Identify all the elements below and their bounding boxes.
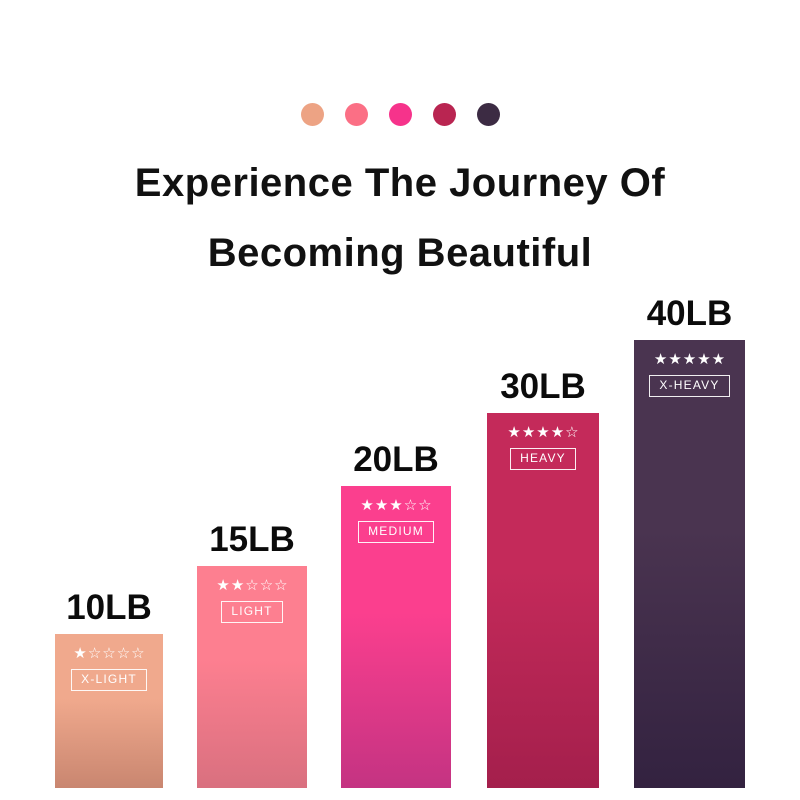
star-empty-icon: ☆	[418, 498, 431, 513]
star-rating: ★☆☆☆☆	[73, 646, 144, 661]
star-rating: ★★☆☆☆	[216, 578, 287, 593]
resistance-level-tag: LIGHT	[221, 601, 282, 623]
star-empty-icon: ☆	[565, 425, 578, 440]
color-swatch-dots	[0, 103, 800, 126]
star-filled-icon: ★	[507, 425, 520, 440]
bar-column-40lb[interactable]: 40LB★★★★★X-HEAVY	[634, 294, 745, 800]
dot-heavy-icon	[433, 103, 456, 126]
star-filled-icon: ★	[216, 578, 229, 593]
bar-column-15lb[interactable]: 15LB★★☆☆☆LIGHT	[197, 520, 307, 800]
star-filled-icon: ★	[73, 646, 86, 661]
star-filled-icon: ★	[231, 578, 244, 593]
star-filled-icon: ★	[668, 352, 681, 367]
star-filled-icon: ★	[375, 498, 388, 513]
bar-body[interactable]: ★★★★☆HEAVY	[487, 413, 599, 788]
bar-body[interactable]: ★★★☆☆MEDIUM	[341, 486, 451, 788]
page-title-line-2: Becoming Beautiful	[0, 218, 800, 288]
star-filled-icon: ★	[536, 425, 549, 440]
resistance-level-tag: X-LIGHT	[71, 669, 147, 691]
star-filled-icon: ★	[522, 425, 535, 440]
bar-body[interactable]: ★★★★★X-HEAVY	[634, 340, 745, 788]
resistance-level-tag: HEAVY	[510, 448, 576, 470]
bar-body[interactable]: ★☆☆☆☆X-LIGHT	[55, 634, 163, 788]
resistance-level-tag: X-HEAVY	[649, 375, 729, 397]
bar-weight-label: 20LB	[353, 440, 439, 480]
star-filled-icon: ★	[697, 352, 710, 367]
bar-column-10lb[interactable]: 10LB★☆☆☆☆X-LIGHT	[55, 588, 163, 800]
star-empty-icon: ☆	[131, 646, 144, 661]
bar-column-20lb[interactable]: 20LB★★★☆☆MEDIUM	[341, 440, 451, 800]
star-rating: ★★★★★	[654, 352, 725, 367]
star-empty-icon: ☆	[274, 578, 287, 593]
resistance-bar-chart: 10LB★☆☆☆☆X-LIGHT15LB★★☆☆☆LIGHT20LB★★★☆☆M…	[0, 280, 800, 800]
page-title: Experience The Journey Of Becoming Beaut…	[0, 148, 800, 288]
star-empty-icon: ☆	[117, 646, 130, 661]
star-rating: ★★★★☆	[507, 425, 578, 440]
product-infographic: Experience The Journey Of Becoming Beaut…	[0, 0, 800, 800]
star-empty-icon: ☆	[260, 578, 273, 593]
bar-weight-label: 40LB	[647, 294, 733, 334]
page-title-line-1: Experience The Journey Of	[0, 148, 800, 218]
star-filled-icon: ★	[712, 352, 725, 367]
star-filled-icon: ★	[551, 425, 564, 440]
dot-x-light-icon	[301, 103, 324, 126]
star-filled-icon: ★	[360, 498, 373, 513]
bar-body[interactable]: ★★☆☆☆LIGHT	[197, 566, 307, 788]
dot-x-heavy-icon	[477, 103, 500, 126]
star-filled-icon: ★	[654, 352, 667, 367]
star-filled-icon: ★	[683, 352, 696, 367]
bar-weight-label: 30LB	[500, 367, 586, 407]
star-filled-icon: ★	[389, 498, 402, 513]
dot-medium-icon	[389, 103, 412, 126]
bar-weight-label: 10LB	[66, 588, 152, 628]
dot-light-icon	[345, 103, 368, 126]
bar-weight-label: 15LB	[209, 520, 295, 560]
star-rating: ★★★☆☆	[360, 498, 431, 513]
star-empty-icon: ☆	[88, 646, 101, 661]
bar-column-30lb[interactable]: 30LB★★★★☆HEAVY	[487, 367, 599, 800]
star-empty-icon: ☆	[404, 498, 417, 513]
star-empty-icon: ☆	[102, 646, 115, 661]
star-empty-icon: ☆	[245, 578, 258, 593]
resistance-level-tag: MEDIUM	[358, 521, 434, 543]
